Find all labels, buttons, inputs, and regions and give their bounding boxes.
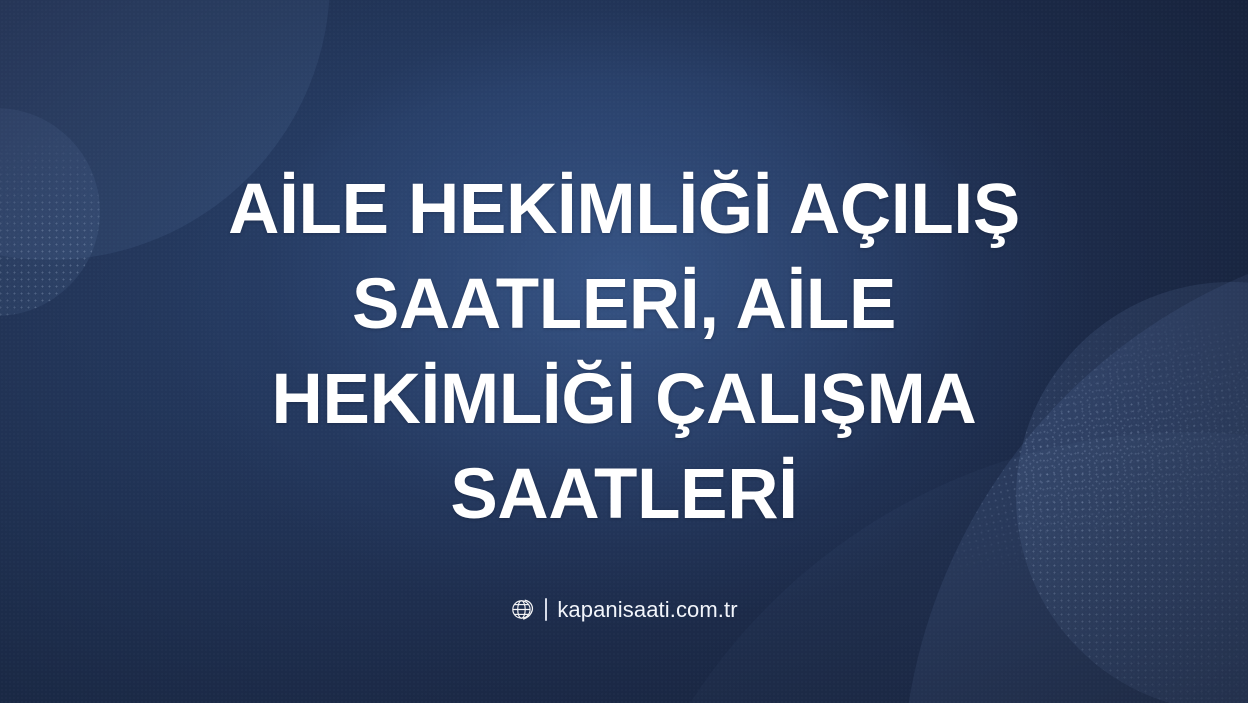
site-url: kapanisaati.com.tr: [557, 599, 737, 621]
globe-icon: [510, 597, 535, 622]
title-line: HEKİMLİĞİ ÇALIŞMA: [228, 352, 1020, 447]
title-line: SAATLERİ: [228, 447, 1020, 542]
footer-separator: [545, 598, 547, 621]
footer-branding: kapanisaati.com.tr: [0, 597, 1248, 622]
page-title: AİLE HEKİMLİĞİ AÇILIŞ SAATLERİ, AİLE HEK…: [168, 162, 1080, 542]
title-line: SAATLERİ, AİLE: [228, 257, 1020, 352]
title-card: AİLE HEKİMLİĞİ AÇILIŞ SAATLERİ, AİLE HEK…: [0, 0, 1248, 703]
title-line: AİLE HEKİMLİĞİ AÇILIŞ: [228, 162, 1020, 257]
